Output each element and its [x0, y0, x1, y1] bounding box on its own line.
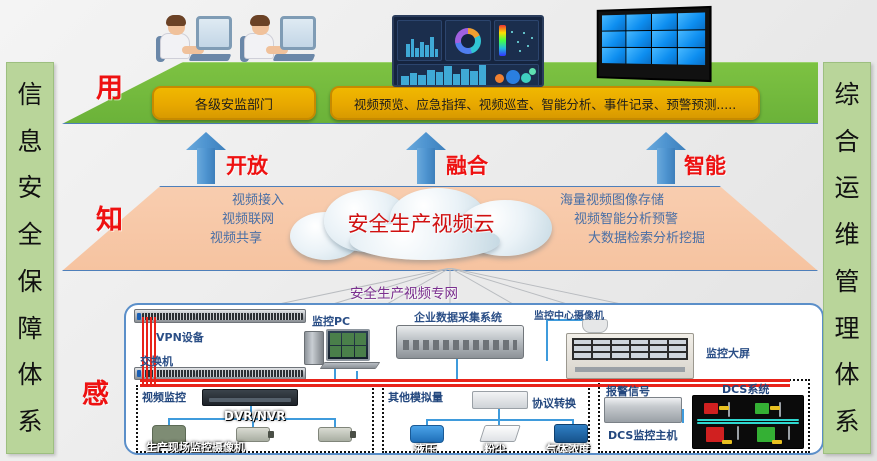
keyboard-shape — [189, 54, 232, 61]
layer-label-sense: 感 — [82, 372, 109, 411]
ports-shape — [196, 370, 249, 376]
console-desk-shape — [575, 367, 686, 371]
arrowshaft-shape — [197, 148, 215, 184]
dashboard-donut-panel — [445, 20, 490, 61]
cloud-right-capabilities: 海量视频图像存储 视频智能分析预警 大数据检索分析挖掘 — [560, 192, 760, 249]
pillar-left-char-0: 信 — [17, 82, 42, 107]
vpn-device-icon — [134, 309, 306, 323]
video-tiles-shape — [330, 333, 366, 357]
up-arrow-intelligent — [646, 132, 686, 184]
monitor-shape — [280, 16, 316, 50]
donut-chart-shape — [455, 28, 481, 54]
arrowshaft-shape — [417, 148, 435, 184]
dvr-strip-shape — [209, 398, 292, 401]
dashboard-top-row — [397, 20, 539, 61]
pillar-left-char-1: 息 — [17, 129, 42, 154]
led-shape — [137, 313, 141, 320]
cable-blue — [682, 409, 684, 423]
control-room-icon — [566, 333, 694, 379]
device-label-data-acq: 企业数据采集系统 — [414, 309, 502, 325]
device-label-center-cam: 监控中心摄像机 — [534, 307, 604, 322]
pillar-right-char-6: 体 — [834, 362, 859, 387]
dcs-host-icon — [604, 397, 682, 423]
device-label-switch: 交换机 — [140, 353, 173, 369]
hair-shape — [166, 15, 186, 26]
pillar-left-char-3: 全 — [17, 222, 42, 247]
dvr-nvr-icon — [202, 389, 298, 406]
group-item-dust: 粉尘 — [484, 441, 506, 455]
dashboard-table-panel — [397, 20, 442, 61]
bullet-camera-icon — [318, 427, 352, 442]
color-scale-shape — [499, 25, 506, 56]
cable-red-bus — [140, 384, 790, 387]
cable-red — [150, 317, 152, 385]
group-title-analog: 其他模拟量 — [388, 389, 443, 405]
group-item-dvr: DVR/NVR — [224, 409, 285, 423]
operator-workstation-icon-1 — [156, 14, 236, 64]
ports-shape — [250, 370, 303, 376]
cable-blue — [426, 419, 574, 421]
mini-bars — [401, 35, 438, 57]
dept-box[interactable]: 各级安监部门 — [152, 86, 316, 120]
cable-blue — [546, 319, 548, 361]
pillar-right-char-0: 综 — [834, 82, 859, 107]
keyboard-icon — [320, 362, 381, 369]
private-network-label: 安全生产视频专网 — [350, 282, 458, 302]
device-label-vpn: VPN设备 — [156, 329, 204, 345]
pc-tower-icon — [304, 331, 324, 365]
up-arrow-open — [186, 132, 226, 184]
group-item-dcs-system: DCS系统 — [722, 381, 769, 397]
led-shape — [137, 370, 141, 376]
diagram-canvas: 用 知 感 信 息 安 全 保 障 体 系 综 合 运 维 管 理 体 系 — [0, 0, 877, 461]
pillar-left-char-7: 系 — [17, 409, 42, 434]
device-label-monitor-pc: 监控PC — [312, 313, 350, 329]
dashboard-bottom-row — [397, 64, 539, 87]
group-item-converter: 协议转换 — [532, 395, 576, 411]
cable-blue — [334, 418, 336, 427]
cloud-left-item-2: 视频共享 — [152, 230, 284, 249]
scatter-shape — [509, 24, 535, 57]
cable-red-bus — [140, 379, 790, 382]
pillar-left-char-4: 保 — [17, 269, 42, 294]
device-label-big-screen: 监控大屏 — [706, 345, 750, 361]
operator-workstation-icon-2 — [240, 14, 320, 64]
pillar-left-char-6: 体 — [17, 362, 42, 387]
cloud-left-item-0: 视频接入 — [152, 192, 284, 211]
dashboard-heatmap-panel — [494, 20, 539, 61]
group-title-alarm: 报警信号 — [606, 383, 650, 399]
analytics-dashboard-icon — [392, 15, 544, 87]
pillar-right-char-1: 合 — [834, 129, 859, 154]
cloud-right-item-2: 大数据检索分析挖掘 — [560, 230, 760, 249]
video-wall-grid — [602, 12, 705, 65]
group-item-site-cams: 生产现场监控摄像机 — [146, 439, 245, 455]
cable-blue — [456, 357, 458, 381]
pillar-right-char-5: 理 — [834, 316, 859, 341]
dcs-hmi-screen-icon — [692, 395, 804, 449]
group-item-gas: 气体浓度 — [546, 441, 590, 455]
group-title-video: 视频监控 — [142, 389, 186, 405]
monitor-shape — [196, 16, 232, 50]
cloud-right-item-0: 海量视频图像存储 — [560, 192, 760, 211]
infrastructure-panel: VPN设备 交换机 监控PC 企业数据采集系统 监控中心摄像机 — [124, 303, 824, 455]
pillar-right-char-3: 维 — [834, 222, 859, 247]
ports-shape — [196, 313, 249, 320]
data-acquisition-server-icon — [396, 325, 524, 359]
video-cloud-icon: 安全生产视频云 — [290, 188, 552, 260]
ports-shape — [403, 340, 516, 350]
cable-red — [146, 317, 148, 385]
keyboard-shape — [273, 54, 316, 61]
pillar-right-char-4: 管 — [834, 269, 859, 294]
layer-label-know: 知 — [96, 198, 123, 237]
cloud-right-item-1: 视频智能分析预警 — [560, 211, 760, 230]
dust-sensor-icon — [479, 425, 521, 442]
cable-red — [154, 317, 156, 385]
arrow-label-open: 开放 — [226, 150, 268, 180]
pillar-right-char-2: 运 — [834, 175, 859, 200]
group-item-hydraulic: 液压 — [414, 441, 436, 455]
pillar-integrated-operations: 综 合 运 维 管 理 体 系 — [823, 62, 871, 454]
pc-screen-icon — [326, 329, 370, 361]
cloud-left-item-1: 视频联网 — [152, 211, 284, 230]
pillar-left-char-2: 安 — [17, 175, 42, 200]
area-chart-shape — [401, 64, 486, 85]
protocol-converter-icon — [472, 391, 528, 409]
video-wall-shape — [572, 338, 688, 361]
functions-box[interactable]: 视频预览、应急指挥、视频巡查、智能分析、事件记录、预警预测..... — [330, 86, 760, 120]
arrowshaft-shape — [657, 148, 675, 184]
group-item-dcs-host: DCS监控主机 — [608, 427, 677, 443]
layer-label-use: 用 — [96, 66, 123, 105]
up-arrow-fusion — [406, 132, 446, 184]
hair-shape — [250, 15, 270, 26]
pillar-left-char-5: 障 — [17, 316, 42, 341]
ports-shape — [250, 313, 303, 320]
video-wall-icon — [597, 6, 712, 82]
pillar-right-char-7: 系 — [834, 409, 859, 434]
arrow-label-fusion: 融合 — [446, 150, 488, 180]
bubble-chart-shape — [492, 65, 538, 87]
arrow-label-intelligent: 智能 — [684, 150, 726, 180]
cable-blue — [498, 409, 500, 419]
cloud-title: 安全生产视频云 — [290, 208, 552, 238]
cable-red — [142, 317, 144, 385]
cloud-left-capabilities: 视频接入 视频联网 视频共享 — [152, 192, 284, 249]
pillar-information-security: 信 息 安 全 保 障 体 系 — [6, 62, 54, 454]
